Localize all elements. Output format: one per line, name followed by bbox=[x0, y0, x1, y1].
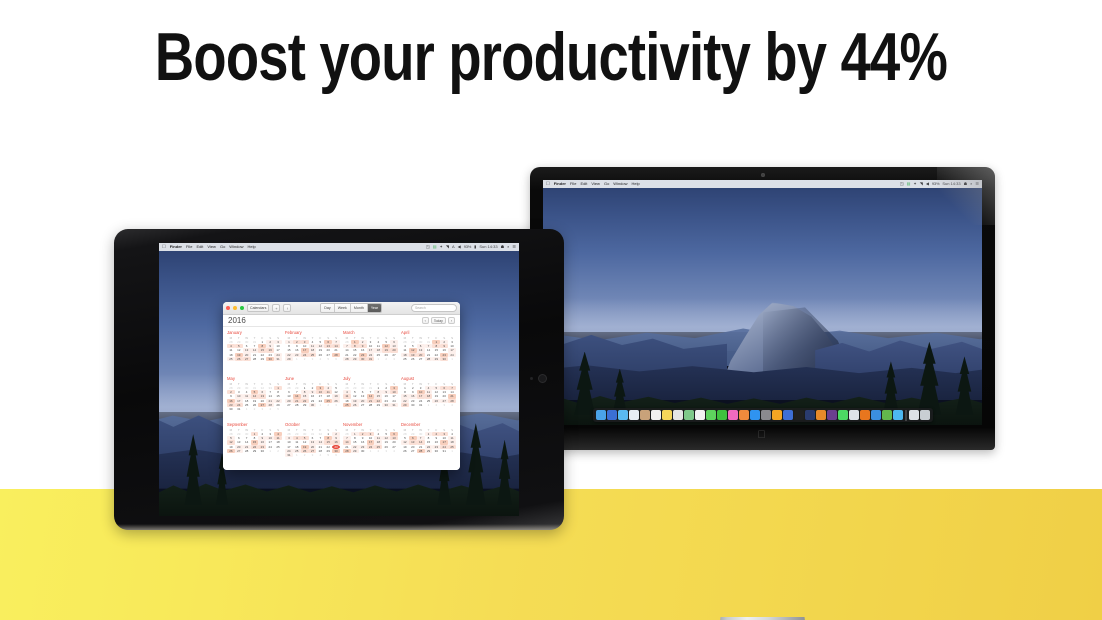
menu-item-edit[interactable]: Edit bbox=[196, 243, 203, 251]
day-cell[interactable]: 28 bbox=[251, 357, 259, 361]
dock-app-mail[interactable] bbox=[629, 410, 639, 420]
dock-app-ibooks[interactable] bbox=[739, 410, 749, 420]
day-cells[interactable]: 1234567891011121314151617181920212223242… bbox=[401, 386, 456, 407]
day-cell[interactable]: 18 bbox=[324, 394, 332, 398]
day-cell[interactable]: 12 bbox=[409, 348, 417, 352]
month-february[interactable]: FebruaryMTWTFSS1234567891011121314151617… bbox=[285, 330, 340, 374]
menu-item-edit[interactable]: Edit bbox=[580, 180, 587, 188]
day-cell-empty: 1 bbox=[425, 403, 433, 407]
day-cell[interactable]: 18 bbox=[374, 348, 382, 352]
day-cell[interactable]: 26 bbox=[351, 403, 359, 407]
day-cell[interactable]: 11 bbox=[401, 348, 409, 352]
month-september[interactable]: SeptemberMTWTFSS282930123456789101112131… bbox=[227, 422, 282, 466]
menu-item-window[interactable]: Window bbox=[613, 180, 627, 188]
day-cell[interactable]: 31 bbox=[417, 403, 425, 407]
dock-separator bbox=[905, 410, 907, 421]
dock-app-photos[interactable] bbox=[695, 410, 705, 420]
minimize-button[interactable] bbox=[233, 306, 237, 310]
day-cell[interactable]: 18 bbox=[309, 348, 317, 352]
day-cell-empty: 1 bbox=[266, 449, 274, 453]
dock[interactable] bbox=[593, 408, 933, 422]
dock-app-slack[interactable] bbox=[827, 410, 837, 420]
day-cell-empty: 3 bbox=[440, 403, 448, 407]
day-cell[interactable]: 15 bbox=[432, 348, 440, 352]
month-may[interactable]: MayMTWTFSS282930313233123456789101112131… bbox=[227, 376, 282, 420]
day-cell[interactable]: 16 bbox=[440, 348, 448, 352]
day-cell[interactable]: 13 bbox=[417, 348, 425, 352]
day-cell-empty: 2 bbox=[324, 403, 332, 407]
apple-logo-icon:  bbox=[758, 430, 768, 441]
day-cell[interactable]: 15 bbox=[374, 394, 382, 398]
calendars-button[interactable]: Calendars bbox=[247, 304, 269, 312]
month-june[interactable]: JuneMTWTFSS28291234567891011121314151617… bbox=[285, 376, 340, 420]
battery-percent-label[interactable]: 93% bbox=[932, 180, 939, 188]
dock-app-facetime[interactable] bbox=[717, 410, 727, 420]
day-cell[interactable]: 11 bbox=[293, 440, 301, 444]
day-cell[interactable]: 14 bbox=[293, 394, 301, 398]
search-icon[interactable]: ⌕ bbox=[507, 243, 509, 251]
day-cell[interactable]: 26 bbox=[227, 449, 235, 453]
month-name-label: April bbox=[401, 330, 456, 335]
dock-app-sketch[interactable] bbox=[772, 410, 782, 420]
menu-item-window[interactable]: Window bbox=[229, 243, 243, 251]
day-cell[interactable]: 30 bbox=[359, 357, 367, 361]
menu-item-view[interactable]: View bbox=[591, 180, 600, 188]
day-cell[interactable]: 16 bbox=[432, 440, 440, 444]
tablet-menu-bar[interactable]:  Finder File Edit View Go Window Help ◳… bbox=[159, 243, 519, 251]
wifi-icon[interactable]: ◥ bbox=[920, 180, 923, 188]
dock-app-notes[interactable] bbox=[662, 410, 672, 420]
day-cells[interactable]: 2812345678910111213141516171819202122232… bbox=[343, 340, 398, 361]
day-cell[interactable]: 15 bbox=[251, 440, 259, 444]
month-name-label: October bbox=[285, 422, 340, 427]
day-cell-empty: 1 bbox=[316, 403, 324, 407]
day-cell[interactable]: 12 bbox=[301, 440, 309, 444]
day-cell-empty: 4 bbox=[316, 357, 324, 361]
day-cell-empty: 2 bbox=[274, 449, 282, 453]
day-cell[interactable]: 17 bbox=[367, 348, 375, 352]
day-cell[interactable]: 29 bbox=[258, 357, 266, 361]
day-cell[interactable]: 14 bbox=[251, 348, 259, 352]
dock-app-downloads[interactable] bbox=[920, 410, 930, 420]
day-cell-empty: 5 bbox=[324, 453, 332, 457]
day-cell[interactable]: 26 bbox=[401, 449, 409, 453]
year-navigation[interactable]: ‹ Today › bbox=[422, 317, 455, 324]
tab-month[interactable]: Month bbox=[351, 304, 368, 312]
zoom-button[interactable] bbox=[240, 306, 244, 310]
day-cell[interactable]: 27 bbox=[417, 357, 425, 361]
day-cell[interactable]: 25 bbox=[401, 357, 409, 361]
menu-item-go[interactable]: Go bbox=[604, 180, 609, 188]
day-cell[interactable]: 31 bbox=[235, 407, 243, 411]
day-cell[interactable]: 30 bbox=[440, 357, 448, 361]
search-icon[interactable]: ⌕ bbox=[970, 180, 972, 188]
day-cell[interactable]: 14 bbox=[266, 394, 274, 398]
day-cell[interactable]: 26 bbox=[235, 357, 243, 361]
wifi-icon[interactable]: ◥ bbox=[446, 243, 449, 251]
day-cell[interactable]: 16 bbox=[359, 440, 367, 444]
day-cell[interactable]: 30 bbox=[258, 449, 266, 453]
day-cell[interactable]: 29 bbox=[401, 403, 409, 407]
day-cell[interactable]: 31 bbox=[367, 357, 375, 361]
day-cell[interactable]: 15 bbox=[301, 394, 309, 398]
day-cell-empty: 1 bbox=[448, 357, 456, 361]
day-cells[interactable]: 2829123456789101112131415161718192021222… bbox=[285, 386, 340, 407]
month-march[interactable]: MarchMTWTFSS2812345678910111213141516171… bbox=[343, 330, 398, 374]
user-icon[interactable]: ☗ bbox=[964, 180, 968, 188]
tab-day[interactable]: Day bbox=[321, 304, 334, 312]
day-cell[interactable]: 16 bbox=[258, 440, 266, 444]
day-cells[interactable]: 1234567891011121314151617181920212223242… bbox=[285, 340, 340, 361]
day-cell[interactable]: 12 bbox=[235, 348, 243, 352]
desktop-wallpaper-monitor bbox=[543, 180, 982, 425]
day-cell[interactable]: 30 bbox=[359, 449, 367, 453]
tab-week[interactable]: Week bbox=[335, 304, 351, 312]
day-cell[interactable]: 25 bbox=[343, 403, 351, 407]
bluetooth-icon[interactable]: ✦ bbox=[913, 180, 916, 188]
dock-app-dropbox[interactable] bbox=[871, 410, 881, 420]
day-cell[interactable]: 30 bbox=[266, 357, 274, 361]
day-cell[interactable]: 11 bbox=[227, 348, 235, 352]
calendar-window[interactable]: Calendars + ↑ Day Week Month Year Search… bbox=[223, 302, 460, 470]
day-cell[interactable]: 29 bbox=[425, 449, 433, 453]
day-cell[interactable]: 28 bbox=[243, 449, 251, 453]
notification-center-icon[interactable]: ☰ bbox=[975, 180, 979, 188]
day-cell[interactable]: 30 bbox=[432, 449, 440, 453]
day-cell[interactable]: 27 bbox=[235, 449, 243, 453]
user-icon[interactable]: ☗ bbox=[501, 243, 505, 251]
day-cell[interactable]: 14 bbox=[367, 394, 375, 398]
clock-label[interactable]: Sun 14:33 bbox=[942, 180, 960, 188]
day-cell[interactable]: 10 bbox=[285, 440, 293, 444]
share-button[interactable]: ↑ bbox=[283, 304, 291, 312]
dock-app-finder[interactable] bbox=[596, 410, 606, 420]
front-camera-icon bbox=[530, 377, 533, 380]
day-cell[interactable]: 17 bbox=[367, 440, 375, 444]
day-cell[interactable]: 28 bbox=[425, 357, 433, 361]
day-cells[interactable]: 2829303112345678910111213141516171819202… bbox=[227, 340, 282, 361]
day-cell-empty: 1 bbox=[367, 449, 375, 453]
month-name-label: September bbox=[227, 422, 282, 427]
day-cell-empty: 4 bbox=[266, 407, 274, 411]
menu-item-finder[interactable]: Finder bbox=[554, 180, 566, 188]
webcam-icon bbox=[761, 173, 765, 177]
display-icon[interactable]: ▤ bbox=[433, 243, 437, 251]
month-october[interactable]: OctoberMTWTFSS28293031321234567891011121… bbox=[285, 422, 340, 466]
battery-percent-label[interactable]: 93% bbox=[464, 243, 471, 251]
day-cells[interactable]: 2829303112345678910111213141516171819202… bbox=[401, 340, 456, 361]
day-cell[interactable]: 15 bbox=[324, 440, 332, 444]
day-cell-empty: 3 bbox=[390, 357, 398, 361]
day-cell[interactable]: 19 bbox=[332, 394, 340, 398]
day-cell[interactable]: 19 bbox=[382, 348, 390, 352]
month-august[interactable]: AugustMTWTFSS123456789101112131415161718… bbox=[401, 376, 456, 420]
day-cell[interactable]: 16 bbox=[382, 394, 390, 398]
input-source-icon[interactable]: A bbox=[452, 243, 455, 251]
day-cell[interactable]: 10 bbox=[235, 394, 243, 398]
clock-label[interactable]: Sun 14:33 bbox=[479, 243, 497, 251]
day-cell[interactable]: 17 bbox=[316, 394, 324, 398]
dock-app-itunes[interactable] bbox=[728, 410, 738, 420]
dock-app-maps[interactable] bbox=[684, 410, 694, 420]
day-cell[interactable]: 12 bbox=[401, 440, 409, 444]
day-cell[interactable]: 29 bbox=[301, 403, 309, 407]
day-cell-empty: 2 bbox=[382, 357, 390, 361]
tablet-bezel:  Finder File Edit View Go Window Help ◳… bbox=[114, 229, 564, 530]
day-cell[interactable]: 17 bbox=[417, 394, 425, 398]
day-cell-empty: 6 bbox=[332, 357, 340, 361]
day-cell[interactable]: 17 bbox=[440, 440, 448, 444]
day-cell[interactable]: 20 bbox=[390, 440, 398, 444]
day-cell[interactable]: 28 bbox=[293, 403, 301, 407]
year-month-grid[interactable]: JanuaryMTWTFSS28293031123456789101112131… bbox=[223, 327, 460, 470]
today-button[interactable]: Today bbox=[431, 317, 446, 324]
day-cell[interactable]: 21 bbox=[332, 348, 340, 352]
day-cell[interactable]: 14 bbox=[243, 440, 251, 444]
menu-item-file[interactable]: File bbox=[570, 180, 576, 188]
day-cell-empty: 1 bbox=[374, 357, 382, 361]
add-event-button[interactable]: + bbox=[272, 304, 280, 312]
day-cell[interactable]: 11 bbox=[243, 394, 251, 398]
prev-year-button[interactable]: ‹ bbox=[422, 317, 429, 324]
dock-app-skype[interactable] bbox=[893, 410, 903, 420]
day-cell[interactable]: 15 bbox=[351, 440, 359, 444]
day-cell-empty: 2 bbox=[432, 403, 440, 407]
day-cell[interactable]: 18 bbox=[448, 440, 456, 444]
day-cell[interactable]: 27 bbox=[285, 403, 293, 407]
day-cell[interactable]: 16 bbox=[409, 394, 417, 398]
monitor-bezel:   Finder bbox=[530, 167, 995, 450]
day-cell[interactable]: 29 bbox=[251, 449, 259, 453]
day-cell[interactable]: 13 bbox=[309, 440, 317, 444]
day-cell[interactable]: 17 bbox=[274, 348, 282, 352]
day-cell[interactable]: 13 bbox=[359, 394, 367, 398]
day-cell[interactable]: 13 bbox=[258, 394, 266, 398]
dock-app-launchpad[interactable] bbox=[607, 410, 617, 420]
day-cell[interactable]: 12 bbox=[227, 440, 235, 444]
day-cell[interactable]: 13 bbox=[285, 394, 293, 398]
dock-app-safari[interactable] bbox=[618, 410, 628, 420]
day-cell[interactable]: 16 bbox=[293, 348, 301, 352]
day-cells[interactable]: 2829303112345678910111213141516171819202… bbox=[343, 386, 398, 407]
day-cells[interactable]: 2829301234567891011121314151617181920212… bbox=[227, 432, 282, 453]
day-cell[interactable]: 19 bbox=[382, 440, 390, 444]
next-year-button[interactable]: › bbox=[448, 317, 455, 324]
day-cell-empty: 3 bbox=[309, 357, 317, 361]
day-cell[interactable]: 28 bbox=[343, 357, 351, 361]
menu-item-view[interactable]: View bbox=[207, 243, 216, 251]
day-cell[interactable]: 25 bbox=[227, 357, 235, 361]
day-cell[interactable]: 16 bbox=[332, 440, 340, 444]
day-cell[interactable]: 31 bbox=[440, 449, 448, 453]
day-cell[interactable]: 27 bbox=[409, 449, 417, 453]
day-cell[interactable]: 18 bbox=[274, 440, 282, 444]
day-cell[interactable]: 12 bbox=[351, 394, 359, 398]
airplay-icon[interactable]: ◳ bbox=[426, 243, 430, 251]
day-cell[interactable]: 16 bbox=[266, 348, 274, 352]
day-cell[interactable]: 14 bbox=[417, 440, 425, 444]
day-cell[interactable]: 13 bbox=[409, 440, 417, 444]
day-cell[interactable]: 12 bbox=[251, 394, 259, 398]
view-tabs[interactable]: Day Week Month Year bbox=[320, 303, 382, 313]
page-title: Boost your productivity by 44% bbox=[110, 18, 992, 96]
dock-app-chrome[interactable] bbox=[849, 410, 859, 420]
dock-app-illustrator[interactable] bbox=[816, 410, 826, 420]
day-cell[interactable]: 20 bbox=[440, 394, 448, 398]
day-cell[interactable]: 29 bbox=[374, 403, 382, 407]
day-cell-empty: 4 bbox=[448, 403, 456, 407]
menu-item-go[interactable]: Go bbox=[220, 243, 225, 251]
day-cell[interactable]: 31 bbox=[274, 357, 282, 361]
month-december[interactable]: DecemberMTWTFSS2829301234567891011121314… bbox=[401, 422, 456, 466]
day-cells[interactable]: 2829301234567891011121314151617181920212… bbox=[401, 432, 456, 453]
day-cell[interactable]: 17 bbox=[448, 348, 456, 352]
day-cells[interactable]: 2829303132123456789101112131415161718192… bbox=[285, 432, 340, 457]
month-april[interactable]: AprilMTWTFSS2829303112345678910111213141… bbox=[401, 330, 456, 374]
day-cell[interactable]: 29 bbox=[351, 449, 359, 453]
day-cell-empty: 4 bbox=[390, 449, 398, 453]
day-cell[interactable]: 15 bbox=[274, 394, 282, 398]
day-cell[interactable]: 16 bbox=[359, 348, 367, 352]
month-july[interactable]: JulyMTWTFSS28293031123456789101112131415… bbox=[343, 376, 398, 420]
day-cell[interactable]: 14 bbox=[316, 440, 324, 444]
dock-app-spotify[interactable] bbox=[838, 410, 848, 420]
day-cell[interactable]: 29 bbox=[432, 357, 440, 361]
day-cell[interactable]: 29 bbox=[285, 357, 293, 361]
day-cell[interactable]: 14 bbox=[425, 348, 433, 352]
month-name-label: November bbox=[343, 422, 398, 427]
day-cell[interactable]: 30 bbox=[382, 403, 390, 407]
day-cell[interactable]: 13 bbox=[243, 348, 251, 352]
external-monitor:   Finder bbox=[530, 167, 995, 450]
day-cell[interactable]: 15 bbox=[285, 348, 293, 352]
day-cell-empty: 5 bbox=[324, 357, 332, 361]
day-cell[interactable]: 17 bbox=[266, 440, 274, 444]
day-cell-empty: 1 bbox=[243, 407, 251, 411]
day-cell[interactable]: 26 bbox=[409, 357, 417, 361]
day-cell[interactable]: 17 bbox=[390, 394, 398, 398]
apple-menu-icon[interactable]:  bbox=[162, 243, 166, 251]
menu-item-help[interactable]: Help bbox=[248, 243, 256, 251]
day-cell[interactable]: 20 bbox=[390, 348, 398, 352]
day-cell-empty: 1 bbox=[293, 357, 301, 361]
menu-item-finder[interactable]: Finder bbox=[170, 243, 182, 251]
month-name-label: February bbox=[285, 330, 340, 335]
tablet-screen:  Finder File Edit View Go Window Help ◳… bbox=[159, 243, 519, 516]
day-cell[interactable]: 31 bbox=[285, 453, 293, 457]
dock-app-reminders[interactable] bbox=[673, 410, 683, 420]
day-cell[interactable]: 27 bbox=[359, 403, 367, 407]
dock-app-app-store[interactable] bbox=[750, 410, 760, 420]
day-cell[interactable]: 15 bbox=[401, 394, 409, 398]
day-cell[interactable]: 17 bbox=[301, 348, 309, 352]
day-cell-empty: 2 bbox=[374, 449, 382, 453]
calendar-year-bar: 2016 ‹ Today › bbox=[223, 315, 460, 327]
month-name-label: June bbox=[285, 376, 340, 381]
day-cell-empty: 3 bbox=[382, 449, 390, 453]
month-name-label: December bbox=[401, 422, 456, 427]
day-cell[interactable]: 18 bbox=[374, 440, 382, 444]
day-cells[interactable]: 2812345678910111213141516171819202122232… bbox=[343, 432, 398, 453]
day-cell-empty: 2 bbox=[301, 453, 309, 457]
monitor-menu-bar[interactable]:  Finder File Edit View Go Window Help ◳… bbox=[543, 180, 982, 188]
day-cell[interactable]: 31 bbox=[390, 403, 398, 407]
day-cell[interactable]: 30 bbox=[227, 407, 235, 411]
day-cell[interactable]: 19 bbox=[432, 394, 440, 398]
notification-center-icon[interactable]: ☰ bbox=[512, 243, 516, 251]
day-cell[interactable]: 15 bbox=[258, 348, 266, 352]
battery-icon[interactable]: ▮ bbox=[474, 243, 476, 251]
day-cell-empty: 3 bbox=[258, 407, 266, 411]
day-cell[interactable]: 19 bbox=[316, 348, 324, 352]
dock-app-xcode[interactable] bbox=[783, 410, 793, 420]
day-cell[interactable]: 27 bbox=[243, 357, 251, 361]
volume-icon[interactable]: ◀ bbox=[458, 243, 461, 251]
day-cell[interactable]: 16 bbox=[309, 394, 317, 398]
day-cell[interactable]: 30 bbox=[409, 403, 417, 407]
day-cell[interactable]: 13 bbox=[235, 440, 243, 444]
day-cell[interactable]: 28 bbox=[367, 403, 375, 407]
home-button[interactable] bbox=[539, 375, 546, 382]
day-cell[interactable]: 11 bbox=[343, 394, 351, 398]
apple-menu-icon[interactable]:  bbox=[546, 180, 550, 188]
dock-app-photoshop[interactable] bbox=[805, 410, 815, 420]
month-name-label: January bbox=[227, 330, 282, 335]
day-cell-empty: 1 bbox=[293, 453, 301, 457]
dock-app-evernote[interactable] bbox=[882, 410, 892, 420]
month-name-label: May bbox=[227, 376, 282, 381]
month-november[interactable]: NovemberMTWTFSS2812345678910111213141516… bbox=[343, 422, 398, 466]
dock-app-messages[interactable] bbox=[706, 410, 716, 420]
day-cell-empty: 3 bbox=[332, 403, 340, 407]
day-cell[interactable]: 14 bbox=[343, 440, 351, 444]
day-cell[interactable]: 28 bbox=[343, 449, 351, 453]
dock-app-terminal[interactable] bbox=[794, 410, 804, 420]
close-button[interactable] bbox=[226, 306, 230, 310]
day-cell[interactable]: 15 bbox=[351, 348, 359, 352]
tablet-device:  Finder File Edit View Go Window Help ◳… bbox=[114, 229, 564, 530]
airplay-icon[interactable]: ◳ bbox=[900, 180, 904, 188]
dock-app-contacts[interactable] bbox=[640, 410, 650, 420]
dock-app-trash[interactable] bbox=[909, 410, 919, 420]
day-cell[interactable]: 9 bbox=[227, 394, 235, 398]
day-cell[interactable]: 18 bbox=[425, 394, 433, 398]
month-january[interactable]: JanuaryMTWTFSS28293031123456789101112131… bbox=[227, 330, 282, 374]
day-cell[interactable]: 20 bbox=[324, 348, 332, 352]
dock-app-calendar[interactable] bbox=[651, 410, 661, 420]
dock-app-system-prefs[interactable] bbox=[761, 410, 771, 420]
menu-item-file[interactable]: File bbox=[186, 243, 192, 251]
bluetooth-icon[interactable]: ✦ bbox=[440, 243, 443, 251]
day-cell[interactable]: 28 bbox=[417, 449, 425, 453]
menu-item-help[interactable]: Help bbox=[632, 180, 640, 188]
day-cell[interactable]: 30 bbox=[309, 403, 317, 407]
day-cell-empty: 5 bbox=[274, 407, 282, 411]
day-cell[interactable]: 21 bbox=[448, 394, 456, 398]
day-cell[interactable]: 29 bbox=[351, 357, 359, 361]
dock-app-firefox[interactable] bbox=[860, 410, 870, 420]
volume-icon[interactable]: ◀ bbox=[926, 180, 929, 188]
day-cells[interactable]: 2829303132331234567891011121314151617181… bbox=[227, 386, 282, 411]
tab-year[interactable]: Year bbox=[368, 304, 381, 312]
search-input[interactable]: Search bbox=[411, 304, 457, 312]
day-cell-empty: 2 bbox=[301, 357, 309, 361]
display-icon[interactable]: ▤ bbox=[907, 180, 911, 188]
month-name-label: March bbox=[343, 330, 398, 335]
day-cell[interactable]: 15 bbox=[425, 440, 433, 444]
calendar-toolbar[interactable]: Calendars + ↑ Day Week Month Year Search bbox=[223, 302, 460, 315]
day-cell[interactable]: 14 bbox=[343, 348, 351, 352]
